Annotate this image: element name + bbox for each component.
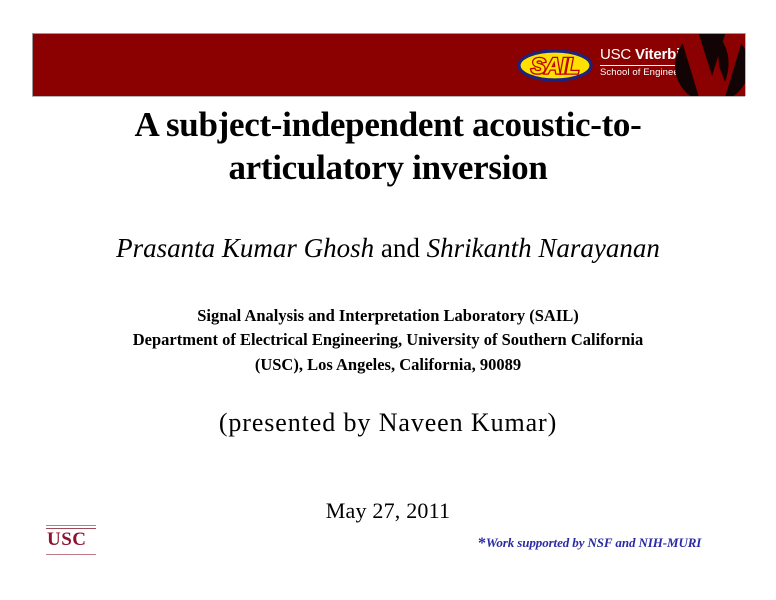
usc-logo-rule-bottom (46, 554, 96, 555)
authors-line: Prasanta Kumar Ghosh and Shrikanth Naray… (38, 232, 738, 264)
viterbi-v-monogram-graphic (673, 33, 745, 96)
slide-title-line-2: articulatory inversion (38, 147, 738, 190)
author-name-second: Shrikanth Narayanan (427, 233, 660, 263)
footnote-text: Work supported by NSF and NIH-MURI (486, 535, 701, 550)
author-name-first: Prasanta Kumar Ghosh (116, 233, 374, 263)
header-banner: SAIL USC Viterbi School of Engineering (32, 33, 745, 96)
viterbi-wordmark-usc: USC (600, 46, 635, 63)
affiliation-block: Signal Analysis and Interpretation Labor… (38, 304, 738, 377)
sail-logo-graphic: SAIL (516, 47, 594, 84)
affiliation-line-2: Department of Electrical Engineering, Un… (38, 328, 738, 352)
date-line: May 27, 2011 (38, 498, 738, 524)
affiliation-line-1: Signal Analysis and Interpretation Labor… (38, 304, 738, 328)
usc-logo: USC (46, 525, 96, 558)
authors-conjunction: and (374, 233, 426, 263)
affiliation-line-3: (USC), Los Angeles, California, 90089 (38, 353, 738, 377)
sail-logo: SAIL (516, 47, 594, 84)
viterbi-v-monogram (673, 33, 745, 96)
usc-logo-text: USC (46, 529, 96, 551)
footnote-asterisk: * (478, 535, 486, 552)
presenter-line: (presented by Naveen Kumar) (38, 408, 738, 438)
svg-text:SAIL: SAIL (531, 54, 579, 79)
footnote: *Work supported by NSF and NIH-MURI (478, 535, 701, 553)
slide-title: A subject-independent acoustic-to- artic… (38, 104, 738, 189)
slide-title-line-1: A subject-independent acoustic-to- (38, 104, 738, 147)
